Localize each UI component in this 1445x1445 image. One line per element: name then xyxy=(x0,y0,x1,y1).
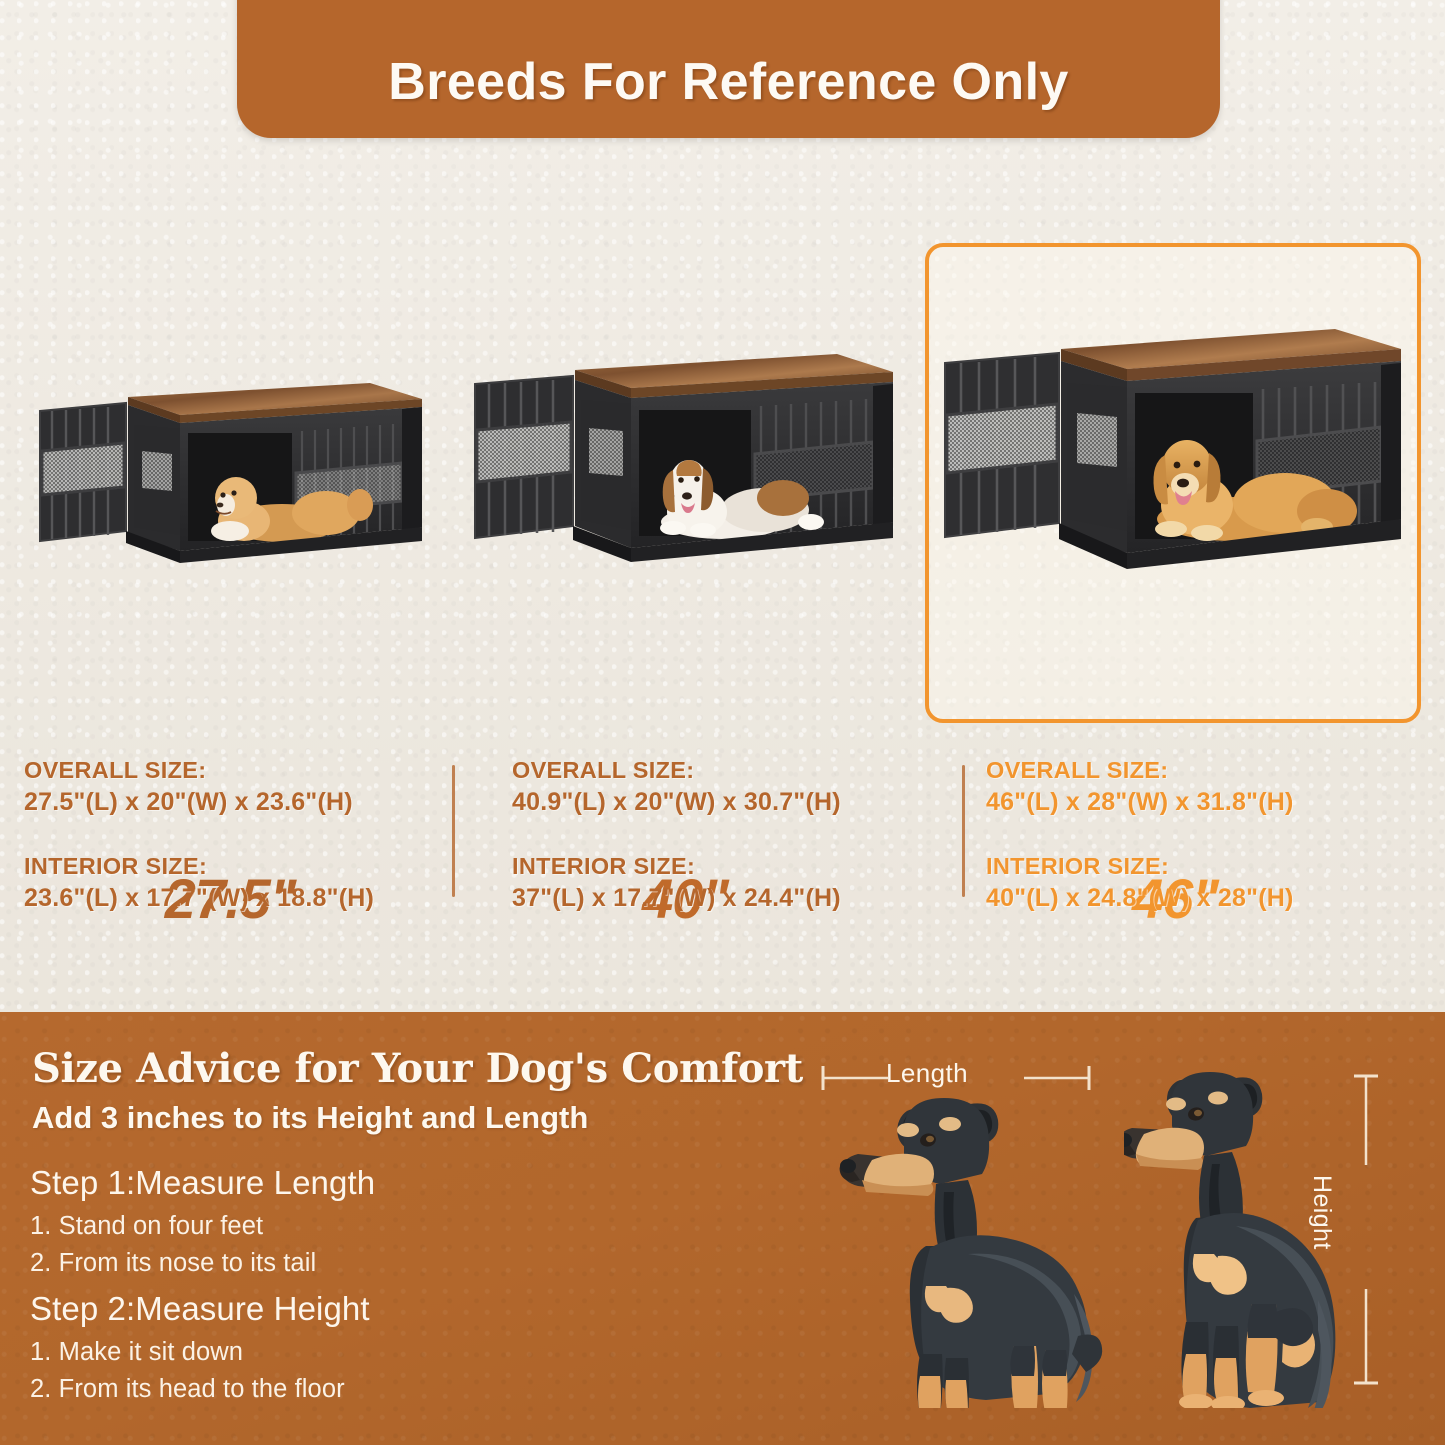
crate-illustration xyxy=(465,330,905,585)
crate-image-40 xyxy=(450,330,920,585)
step-2-heading: Step 2:Measure Height xyxy=(30,1290,370,1328)
step-2-line-2: 2. From its head to the floor xyxy=(30,1375,345,1404)
interior-size-value: 37"(L) x 17.7"(W) x 24.4"(H) xyxy=(512,882,942,915)
spec-block-40: OVERALL SIZE: 40.9"(L) x 20"(W) x 30.7"(… xyxy=(512,755,942,914)
overall-size-label: OVERALL SIZE: xyxy=(512,755,942,786)
overall-size-value: 46"(L) x 28"(W) x 31.8"(H) xyxy=(986,786,1416,819)
infographic-page: Breeds For Reference Only xyxy=(0,0,1445,1445)
banner-title: Breeds For Reference Only xyxy=(388,52,1068,112)
interior-size-value: 40"(L) x 24.8"(W) x 28"(H) xyxy=(986,882,1416,915)
crate-illustration xyxy=(30,355,430,580)
header-banner: Breeds For Reference Only xyxy=(237,0,1220,138)
interior-size-label: INTERIOR SIZE: xyxy=(24,851,444,882)
spec-block-27: OVERALL SIZE: 27.5"(L) x 20"(W) x 23.6"(… xyxy=(24,755,444,914)
advice-title: Size Advice for Your Dog's Comfort xyxy=(32,1045,803,1092)
overall-size-value: 40.9"(L) x 20"(W) x 30.7"(H) xyxy=(512,786,942,819)
interior-size-label: INTERIOR SIZE: xyxy=(986,851,1416,882)
doberman-standing-illustration xyxy=(818,1088,1104,1408)
spec-divider-left xyxy=(452,765,455,897)
product-column-27: 27.5" xyxy=(10,250,450,720)
spec-block-46: OVERALL SIZE: 46"(L) x 28"(W) x 31.8"(H)… xyxy=(986,755,1416,914)
step-1-line-2: 2. From its nose to its tail xyxy=(30,1249,316,1278)
overall-size-label: OVERALL SIZE: xyxy=(24,755,444,786)
height-measure-guide xyxy=(1352,1073,1382,1388)
crate-illustration xyxy=(935,305,1415,595)
interior-size-label: INTERIOR SIZE: xyxy=(512,851,942,882)
advice-subtitle: Add 3 inches to its Height and Length xyxy=(32,1100,588,1136)
crate-image-46 xyxy=(925,305,1425,595)
spec-divider-right xyxy=(962,765,965,897)
product-column-40: 40" xyxy=(450,250,920,720)
overall-size-value: 27.5"(L) x 20"(W) x 23.6"(H) xyxy=(24,786,444,819)
step-1-line-1: 1. Stand on four feet xyxy=(30,1212,263,1241)
overall-size-label: OVERALL SIZE: xyxy=(986,755,1416,786)
step-1-heading: Step 1:Measure Length xyxy=(30,1164,375,1202)
length-label: Length xyxy=(886,1058,968,1089)
step-2-line-1: 1. Make it sit down xyxy=(30,1338,243,1367)
interior-size-value: 23.6"(L) x 17.7"(W) x 18.8"(H) xyxy=(24,882,444,915)
crate-image-27 xyxy=(10,350,450,580)
doberman-sitting-illustration xyxy=(1124,1068,1344,1408)
product-column-46: 46" xyxy=(925,250,1425,720)
